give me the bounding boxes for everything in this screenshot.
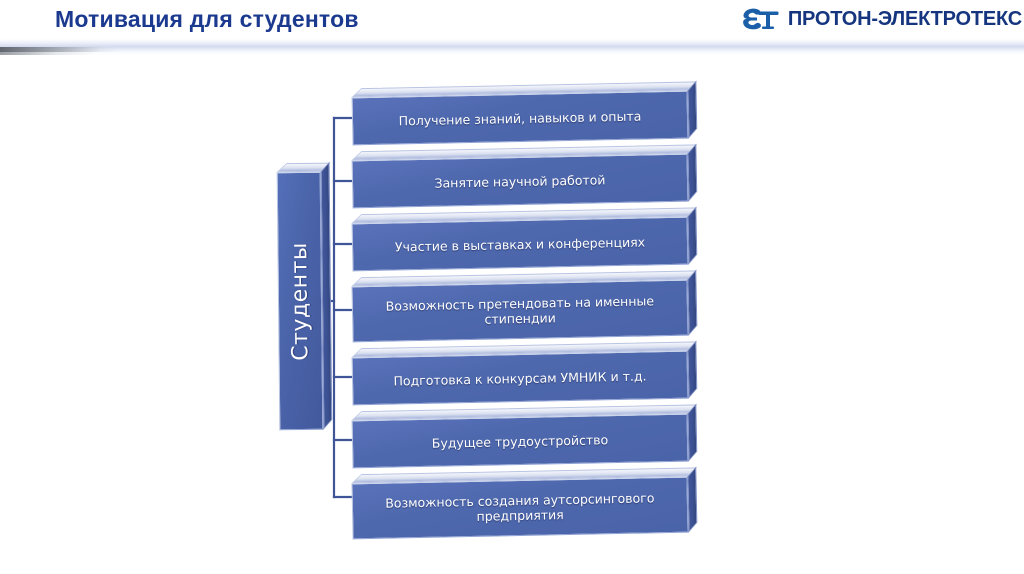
diagram-item-4[interactable]: Возможность претендовать на именные стип…	[351, 280, 688, 343]
item-front-face: Возможность создания аутсорсингового пре…	[351, 477, 688, 540]
item-label: Получение знаний, навыков и опыта	[353, 107, 687, 129]
item-side-face	[687, 340, 697, 398]
page-title: Мотивация для студентов	[55, 6, 359, 33]
root-node-front-face: Студенты	[277, 172, 324, 430]
item-label: Будущее трудоустройство	[353, 430, 687, 452]
item-side-face	[687, 143, 697, 201]
diagram-root-node[interactable]: Студенты	[277, 172, 324, 430]
item-label: Возможность претендовать на именные стип…	[353, 293, 688, 330]
diagram-item-2[interactable]: Занятие научной работой	[352, 154, 689, 209]
diagram-item-7[interactable]: Возможность создания аутсорсингового пре…	[351, 477, 688, 540]
diagram-item-3[interactable]: Участие в выставках и конференциях	[352, 217, 689, 272]
company-logo: ПРОТОН-ЭЛЕКТРОТЕКС	[740, 2, 1022, 36]
item-label: Возможность создания аутсорсингового пре…	[353, 490, 688, 527]
motivation-diagram: Студенты Получение знаний, навыков и опы…	[0, 60, 1024, 574]
root-node-label: Студенты	[292, 242, 308, 361]
item-front-face: Участие в выставках и конференциях	[352, 217, 689, 272]
item-front-face: Будущее трудоустройство	[352, 414, 689, 469]
item-side-face	[687, 269, 697, 335]
item-front-face: Подготовка к конкурсам УМНИК и т.д.	[352, 351, 689, 406]
item-front-face: Получение знаний, навыков и опыта	[352, 91, 689, 146]
header-band-accent-secondary	[0, 52, 95, 55]
diagram-item-1[interactable]: Получение знаний, навыков и опыта	[352, 91, 689, 146]
item-label: Подготовка к конкурсам УМНИК и т.д.	[353, 367, 687, 389]
et-monogram-icon	[740, 4, 782, 34]
item-side-face	[687, 80, 697, 138]
company-logo-text: ПРОТОН-ЭЛЕКТРОТЕКС	[788, 8, 1022, 31]
slide: Мотивация для студентов ПРОТОН-ЭЛЕКТРОТЕ…	[0, 0, 1024, 574]
diagram-item-5[interactable]: Подготовка к конкурсам УМНИК и т.д.	[352, 351, 689, 406]
item-front-face: Занятие научной работой	[352, 154, 689, 209]
item-label: Участие в выставках и конференциях	[353, 233, 687, 255]
header-gradient-band	[0, 39, 1024, 55]
slide-header: Мотивация для студентов ПРОТОН-ЭЛЕКТРОТЕ…	[0, 0, 1024, 40]
item-side-face	[687, 403, 697, 461]
diagram-item-6[interactable]: Будущее трудоустройство	[352, 414, 689, 469]
item-label: Занятие научной работой	[353, 170, 687, 192]
item-side-face	[687, 466, 697, 532]
item-side-face	[687, 206, 697, 264]
item-front-face: Возможность претендовать на именные стип…	[351, 280, 688, 343]
